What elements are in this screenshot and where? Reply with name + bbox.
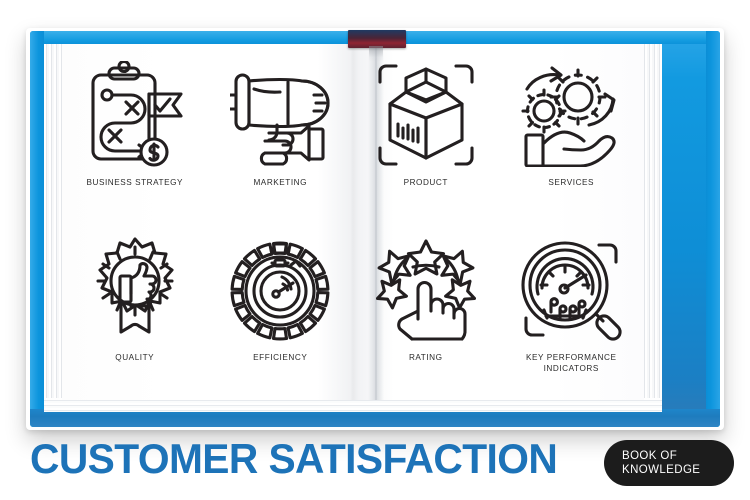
grid-item-key-performance-indicators[interactable]: KEY PERFORMANCE INDICATORS <box>499 223 645 398</box>
hand-gears-arrows-icon <box>519 56 623 174</box>
infographic-canvas: BUSINESS STRATEGY <box>0 0 750 500</box>
grid-item-services[interactable]: SERVICES <box>499 48 645 223</box>
grid-item-label: SERVICES <box>548 178 594 189</box>
page-edges-right <box>642 44 662 412</box>
grid-item-product[interactable]: PRODUCT <box>353 48 499 223</box>
grid-item-label: PRODUCT <box>404 178 448 189</box>
book-cover-left-edge <box>30 31 44 427</box>
grid-item-rating[interactable]: RATING <box>353 223 499 398</box>
grid-item-label: BUSINESS STRATEGY <box>86 178 183 189</box>
book-of-knowledge-badge: BOOK OF KNOWLEDGE <box>604 440 734 486</box>
grid-item-label: KEY PERFORMANCE INDICATORS <box>526 353 616 375</box>
badge-line-1: BOOK OF <box>622 449 677 463</box>
icon-grid: BUSINESS STRATEGY <box>62 48 644 398</box>
megaphone-hand-icon <box>228 56 332 174</box>
gear-stopwatch-icon <box>228 231 332 349</box>
page-edges-bottom <box>44 398 662 412</box>
open-box-scan-barcode-icon <box>374 56 478 174</box>
grid-item-label: QUALITY <box>115 353 154 364</box>
grid-item-label: RATING <box>409 353 443 364</box>
grid-item-efficiency[interactable]: EFFICIENCY <box>208 223 354 398</box>
book-cover-right-edge <box>706 31 720 427</box>
grid-item-marketing[interactable]: MARKETING <box>208 48 354 223</box>
grid-item-label: EFFICIENCY <box>253 353 307 364</box>
page-edges-left <box>44 44 64 412</box>
magnifier-gauge-kpi-icon <box>519 231 623 349</box>
five-stars-pointing-hand-icon <box>374 231 478 349</box>
grid-item-business-strategy[interactable]: BUSINESS STRATEGY <box>62 48 208 223</box>
page-title: CUSTOMER SATISFACTION <box>30 437 557 481</box>
award-rosette-thumbs-up-icon <box>83 231 187 349</box>
clipboard-strategy-flag-coin-icon <box>83 56 187 174</box>
badge-line-2: KNOWLEDGE <box>622 463 700 477</box>
grid-item-quality[interactable]: QUALITY <box>62 223 208 398</box>
grid-item-label: MARKETING <box>253 178 307 189</box>
